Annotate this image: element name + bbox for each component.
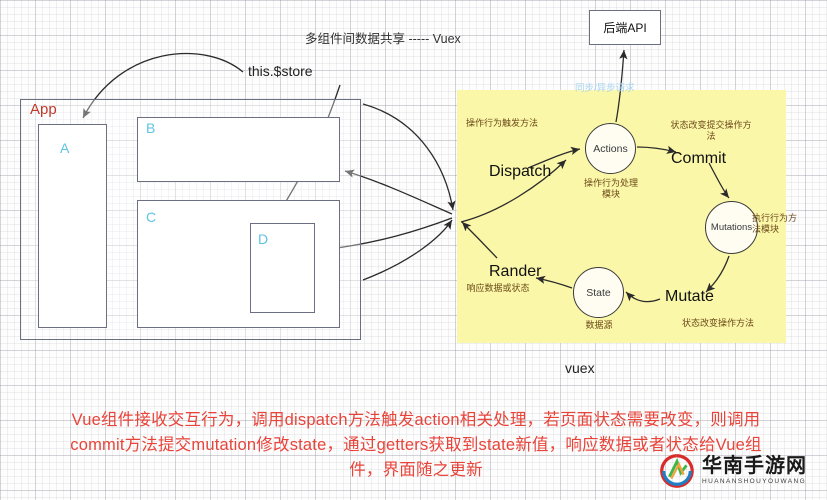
store-accessor-label: this.$store: [248, 63, 313, 79]
component-box-a: [38, 124, 107, 328]
arrow-app-to-hub: [363, 104, 453, 210]
node-state-label: State: [586, 287, 611, 299]
node-actions-label: Actions: [593, 143, 627, 155]
component-box-b: [137, 117, 340, 182]
edge-mutate-caption: 状态改变操作方法: [658, 318, 778, 329]
diagram-canvas: App A B C D 多组件间数据共享 ----- Vuex this.$st…: [0, 0, 827, 500]
component-label-d: D: [258, 231, 268, 247]
node-mutations-label: Mutations: [711, 222, 752, 233]
component-label-c: C: [146, 209, 156, 225]
app-label: App: [30, 101, 57, 118]
watermark: 华南手游网 HUANANSHOUYOUWANG: [658, 452, 807, 490]
watermark-text: 华南手游网 HUANANSHOUYOUWANG: [702, 456, 807, 486]
node-actions: Actions: [585, 123, 636, 174]
edge-commit-label: Commit: [671, 150, 726, 168]
edge-commit-caption: 状态改变提交操作方法: [668, 120, 754, 142]
watermark-logo-icon: [658, 452, 696, 490]
node-state: State: [573, 267, 624, 318]
component-label-b: B: [146, 120, 155, 136]
arrow-hub-to-b: [345, 171, 452, 214]
edge-dispatch-caption: 操作行为触发方法: [463, 118, 541, 129]
diagram-title-note: 多组件间数据共享 ----- Vuex: [305, 28, 461, 47]
node-mutations-caption: 执行行为方法模块: [752, 213, 798, 235]
component-label-a: A: [60, 140, 69, 156]
backend-api-label: 后端API: [603, 19, 646, 36]
edge-dispatch-label: Dispatch: [489, 163, 551, 181]
node-actions-caption: 操作行为处理模块: [581, 178, 641, 200]
edge-mutate-label: Mutate: [665, 288, 714, 306]
node-mutations: Mutations: [705, 201, 758, 254]
arrow-c-to-hub: [363, 220, 452, 280]
watermark-en: HUANANSHOUYOUWANG: [702, 479, 807, 486]
sync-request-label: 同步/异步请求: [575, 80, 635, 94]
edge-rander-label: Rander: [489, 263, 541, 281]
node-state-caption: 数据源: [569, 320, 629, 331]
vuex-caption: vuex: [565, 360, 595, 376]
backend-api-box: 后端API: [589, 10, 661, 45]
watermark-cn: 华南手游网: [702, 456, 807, 476]
edge-rander-caption: 响应数据或状态: [466, 283, 530, 294]
